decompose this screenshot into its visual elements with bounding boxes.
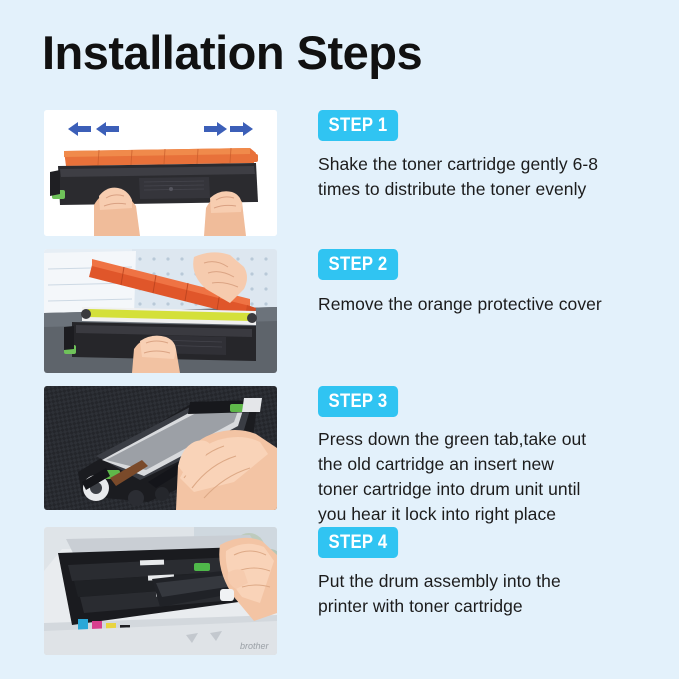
right-hand	[204, 191, 246, 236]
step-4-text: STEP 4 Put the drum assembly into the pr…	[318, 527, 666, 619]
drum-insert-printer-photo: brother	[44, 527, 277, 655]
step-3-description: Press down the green tab,take out the ol…	[318, 427, 666, 527]
step-1-description: Shake the toner cartridge gently 6-8 tim…	[318, 152, 666, 202]
step-4-description: Put the drum assembly into the printer w…	[318, 569, 666, 619]
step-1-badge: STEP 1	[318, 110, 398, 141]
orange-cover	[64, 148, 258, 166]
step-4-badge: STEP 4	[318, 527, 398, 558]
step-1-image	[44, 110, 277, 236]
green-tab-top	[230, 404, 244, 412]
step-2-description: Remove the orange protective cover	[318, 292, 666, 317]
page-title: Installation Steps	[42, 26, 422, 80]
step-2-text: STEP 2 Remove the orange protective cove…	[318, 249, 666, 317]
step-3-badge: STEP 3	[318, 386, 398, 417]
step-2-image	[44, 249, 277, 373]
green-tab-drum	[194, 563, 210, 571]
step-2-badge: STEP 2	[318, 249, 398, 280]
green-tab-press-photo	[44, 386, 277, 510]
brother-logo: brother	[240, 641, 270, 651]
step-1-text: STEP 1 Shake the toner cartridge gently …	[318, 110, 666, 202]
step-4-image: brother	[44, 527, 277, 655]
toner-cartridge-shake-photo	[44, 110, 277, 236]
step-3-image	[44, 386, 277, 510]
installation-steps-page: Installation Steps	[0, 0, 679, 679]
step-3-text: STEP 3 Press down the green tab,take out…	[318, 386, 666, 527]
orange-cover-removal-photo	[44, 249, 277, 373]
